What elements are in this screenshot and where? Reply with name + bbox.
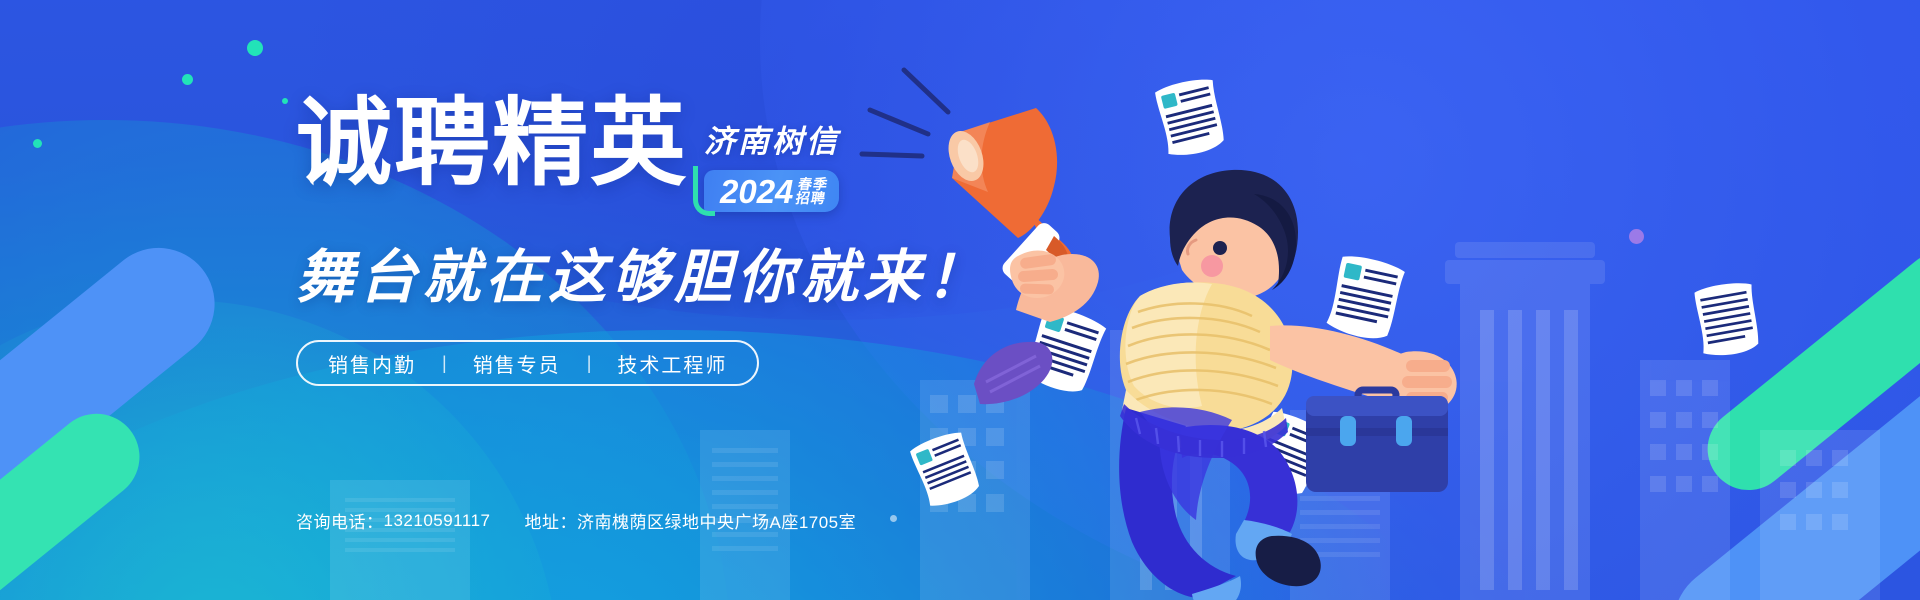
- badge-accent-stroke: [693, 166, 715, 216]
- badge-season-line2: 招聘: [795, 191, 827, 205]
- subtitle: 舞台就在这够胆你就来！: [296, 230, 1076, 314]
- tag-separator: |: [442, 353, 447, 374]
- badge-season: 春季 招聘: [795, 177, 830, 206]
- company-name: 济南树信: [704, 116, 840, 161]
- job-tags-pill: 销售内勤 | 销售专员 | 技术工程师: [296, 340, 759, 386]
- badge-season-line1: 春季: [797, 177, 829, 191]
- address-label: 地址：: [524, 508, 577, 533]
- contact-info: 咨询电话： 13210591117 地址： 济南槐荫区绿地中央广场A座1705室: [296, 508, 856, 533]
- badge-year: 2024: [720, 175, 793, 208]
- briefcase-icon: [1306, 390, 1448, 492]
- decorative-dot: [247, 40, 263, 56]
- banner-text-content: 诚聘精英 济南树信 2024 春季 招聘 舞台就在这够胆你就来！ 销售内勤 | …: [296, 96, 1076, 386]
- decorative-dot: [282, 98, 288, 104]
- badge-column: 济南树信 2024 春季 招聘: [704, 96, 840, 212]
- tag-separator: |: [587, 353, 592, 374]
- decorative-dot: [182, 74, 193, 85]
- recruitment-banner: 诚聘精英 济南树信 2024 春季 招聘 舞台就在这够胆你就来！ 销售内勤 | …: [0, 0, 1920, 600]
- job-tag-sales-admin[interactable]: 销售内勤: [328, 349, 416, 378]
- job-tag-technical-engineer[interactable]: 技术工程师: [617, 349, 727, 378]
- phone-number[interactable]: 13210591117: [384, 511, 491, 531]
- season-badge: 2024 春季 招聘: [704, 170, 839, 212]
- page-title: 诚聘精英: [296, 96, 688, 192]
- decorative-dot: [1629, 229, 1644, 244]
- headline-row: 诚聘精英 济南树信 2024 春季 招聘: [296, 96, 1076, 212]
- decorative-dot: [33, 139, 42, 148]
- job-tag-sales-specialist[interactable]: 销售专员: [473, 349, 561, 378]
- address-value: 济南槐荫区绿地中央广场A座1705室: [577, 508, 856, 533]
- phone-label: 咨询电话：: [296, 508, 384, 533]
